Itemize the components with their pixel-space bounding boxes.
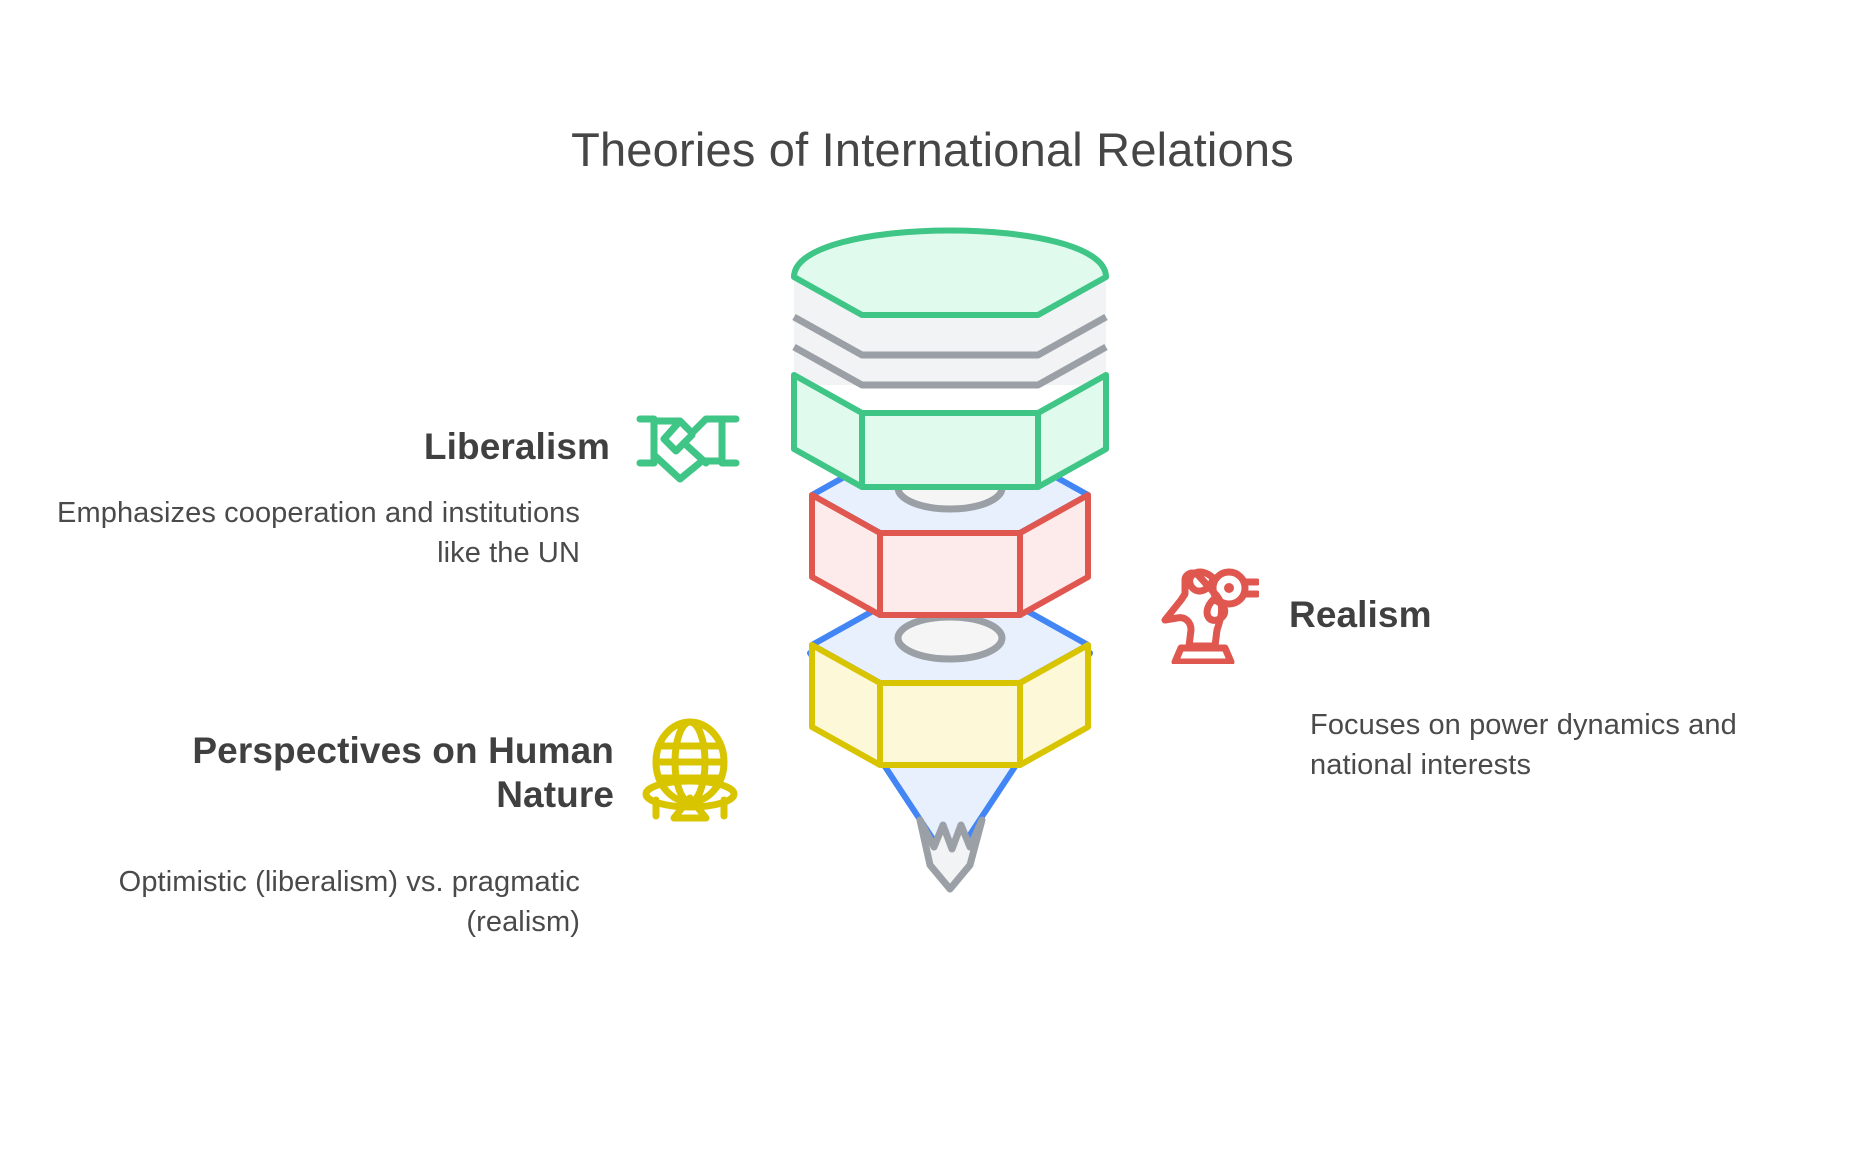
liberalism-heading: Liberalism — [424, 425, 610, 469]
liberalism-description: Emphasizes cooperation and institutions … — [40, 493, 580, 573]
stacked-bolt-nut-cone-diagram — [780, 225, 1120, 900]
chess-knight-strategy-icon — [1155, 560, 1259, 669]
infographic-canvas: Theories of International Relations — [0, 0, 1865, 1156]
liberalism-block: Liberalism — [80, 405, 740, 488]
handshake-icon — [636, 405, 740, 488]
page-title: Theories of International Relations — [0, 122, 1865, 177]
perspectives-block: Perspectives on Human Nature — [120, 718, 740, 827]
yellow-hex-nut-layer — [812, 607, 1088, 765]
realism-description: Focuses on power dynamics and national i… — [1310, 705, 1830, 785]
green-domed-hex-cap-layer — [794, 231, 1106, 488]
perspectives-heading: Perspectives on Human Nature — [120, 729, 614, 816]
realism-block: Realism — [1155, 560, 1432, 669]
globe-stand-icon — [640, 718, 740, 827]
perspectives-description: Optimistic (liberalism) vs. pragmatic (r… — [60, 862, 580, 942]
realism-heading: Realism — [1289, 593, 1432, 637]
